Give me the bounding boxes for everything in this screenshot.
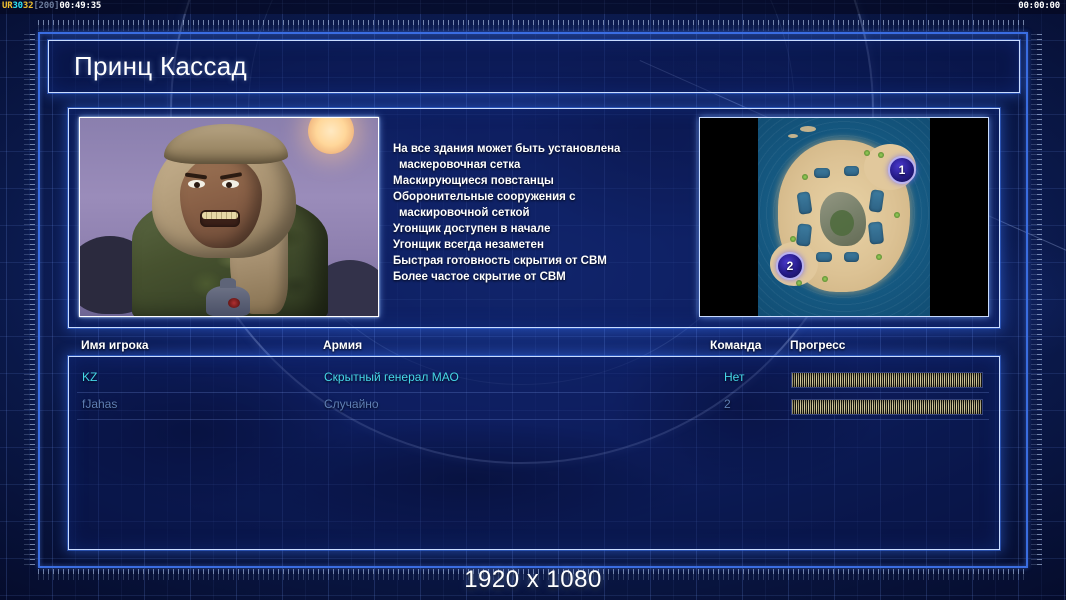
portrait-eye-left: [188, 180, 205, 188]
player-list-panel: KZ Скрытный генерал МАО Нет fJahas Случа…: [68, 356, 1000, 550]
row-separator: [77, 419, 989, 420]
column-header-name: Имя игрока: [81, 338, 149, 352]
map-feature: [869, 189, 885, 213]
map-vegetation: [790, 236, 796, 242]
map-feature: [816, 252, 832, 262]
game-lobby-screen: UR3032[200]00:49:35 00:00:00 Принц Касса…: [0, 0, 1066, 600]
top-status-bar: UR3032[200]00:49:35 00:00:00: [0, 0, 1066, 14]
map-start-position-2[interactable]: 2: [776, 252, 804, 280]
map-feature: [796, 223, 812, 246]
ability-line: Быстрая готовность скрытия от СВМ: [393, 253, 723, 269]
column-header-progress: Прогресс: [790, 338, 845, 352]
map-vegetation: [894, 212, 900, 218]
frame-border-right: [1026, 32, 1028, 568]
player-progress-bar: [791, 399, 983, 415]
map-feature: [797, 191, 813, 215]
ability-line: маскеровочная сетка: [393, 157, 723, 173]
debug-stats-num1: 30: [12, 1, 22, 11]
ruler-ticks-top: [38, 20, 1028, 31]
ruler-ticks-left: [24, 34, 35, 566]
map-vegetation: [822, 276, 828, 282]
page-title: Принц Кассад: [74, 51, 247, 82]
player-team[interactable]: Нет: [724, 370, 744, 384]
player-team[interactable]: 2: [724, 397, 731, 411]
ability-line: Более частое скрытие от СВМ: [393, 269, 723, 285]
debug-stats-bracket: [200]: [33, 1, 59, 11]
portrait-mouth: [200, 210, 240, 227]
table-row[interactable]: fJahas Случайно 2: [69, 393, 999, 420]
ability-line: На все здания может быть установлена: [393, 141, 723, 157]
player-list-headers: Имя игрока Армия Команда Прогресс: [68, 338, 998, 356]
debug-stats-elapsed: 00:49:35: [59, 1, 101, 11]
map-feature: [814, 168, 830, 178]
debug-stats-readout: UR3032[200]00:49:35: [2, 1, 101, 11]
portrait-brow-left: [185, 172, 207, 179]
general-info-panel: На все здания может быть установлена мас…: [68, 108, 1000, 328]
ability-line: маскировочной сеткой: [393, 205, 723, 221]
portrait-eye-right: [222, 180, 239, 188]
general-ability-list: На все здания может быть установлена мас…: [393, 141, 723, 285]
debug-stats-num2: 32: [23, 1, 33, 11]
map-feature: [844, 252, 859, 262]
player-army[interactable]: Случайно: [324, 397, 379, 411]
general-portrait: [79, 117, 379, 317]
map-feature: [868, 221, 884, 244]
ability-line: Угонщик доступен в начале: [393, 221, 723, 237]
map-islet: [800, 126, 816, 132]
frame-border-left: [38, 32, 40, 568]
player-name: fJahas: [82, 397, 117, 411]
map-vegetation: [796, 280, 802, 286]
player-progress-fill: [792, 373, 982, 387]
ability-line: Маскирующиеся повстанцы: [393, 173, 723, 189]
portrait-brow-right: [220, 172, 242, 180]
resolution-footer: 1920 x 1080: [0, 566, 1066, 594]
player-progress-bar: [791, 372, 983, 388]
portrait-teeth: [202, 212, 238, 219]
portrait-kettle: [206, 286, 250, 316]
portrait-pupil-right: [226, 182, 232, 188]
map-vegetation: [802, 174, 808, 180]
table-row[interactable]: KZ Скрытный генерал МАО Нет: [69, 366, 999, 393]
portrait-kettle-glow: [228, 298, 240, 308]
title-panel: Принц Кассад: [48, 40, 1020, 93]
player-army[interactable]: Скрытный генерал МАО: [324, 370, 459, 384]
session-timer: 00:00:00: [1018, 1, 1060, 11]
column-header-army: Армия: [323, 338, 362, 352]
portrait-face: [180, 156, 262, 248]
map-vegetation: [876, 254, 882, 260]
player-name: KZ: [82, 370, 97, 384]
map-vegetation: [878, 152, 884, 158]
map-water: 1 2: [758, 118, 930, 316]
ability-line: Угонщик всегда незаметен: [393, 237, 723, 253]
ruler-ticks-right: [1031, 34, 1042, 566]
map-preview[interactable]: 1 2: [699, 117, 989, 317]
ability-line: Оборонительные сооружения с: [393, 189, 723, 205]
player-progress-fill: [792, 400, 982, 414]
debug-stats-prefix: UR: [2, 1, 12, 11]
portrait-kettle-lid: [220, 278, 236, 288]
resolution-label: 1920 x 1080: [464, 566, 602, 593]
map-islet: [788, 134, 798, 138]
frame-border-top: [40, 32, 1026, 34]
map-vegetation: [864, 150, 870, 156]
map-feature: [844, 166, 859, 176]
portrait-pupil-left: [194, 182, 200, 188]
map-start-position-1[interactable]: 1: [888, 156, 916, 184]
column-header-team: Команда: [710, 338, 761, 352]
map-center-vegetation: [830, 210, 854, 236]
